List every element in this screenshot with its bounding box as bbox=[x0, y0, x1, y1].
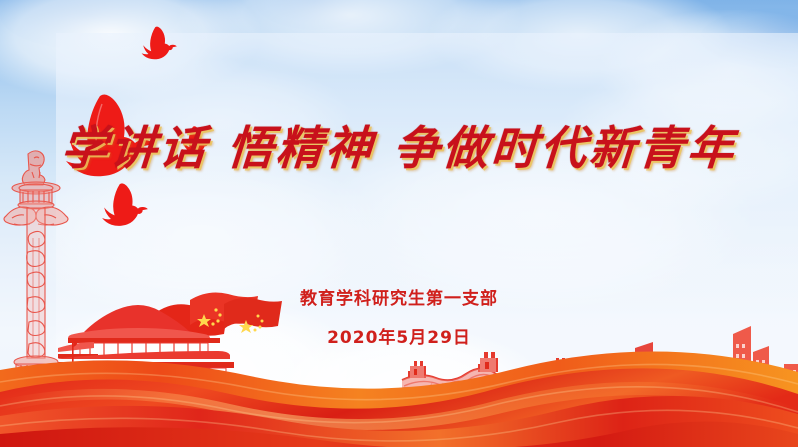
sky-blue-patch bbox=[0, 0, 180, 50]
title-block: 学讲话 悟精神 争做时代新青年 bbox=[0, 112, 798, 178]
sky-blue-patch bbox=[255, 0, 375, 30]
organization-name: 教育学科研究生第一支部 bbox=[0, 284, 798, 309]
presentation-title-slide: 学讲话 悟精神 争做时代新青年 教育学科研究生第一支部 2020年5月29日 bbox=[0, 0, 798, 447]
slide-main-title: 学讲话 悟精神 争做时代新青年 bbox=[0, 112, 798, 178]
slide-date: 2020年5月29日 bbox=[0, 323, 798, 348]
subtitle-block: 教育学科研究生第一支部 2020年5月29日 bbox=[0, 284, 798, 348]
sky-blue-patch bbox=[700, 8, 798, 68]
sky-cloud bbox=[430, 0, 730, 90]
